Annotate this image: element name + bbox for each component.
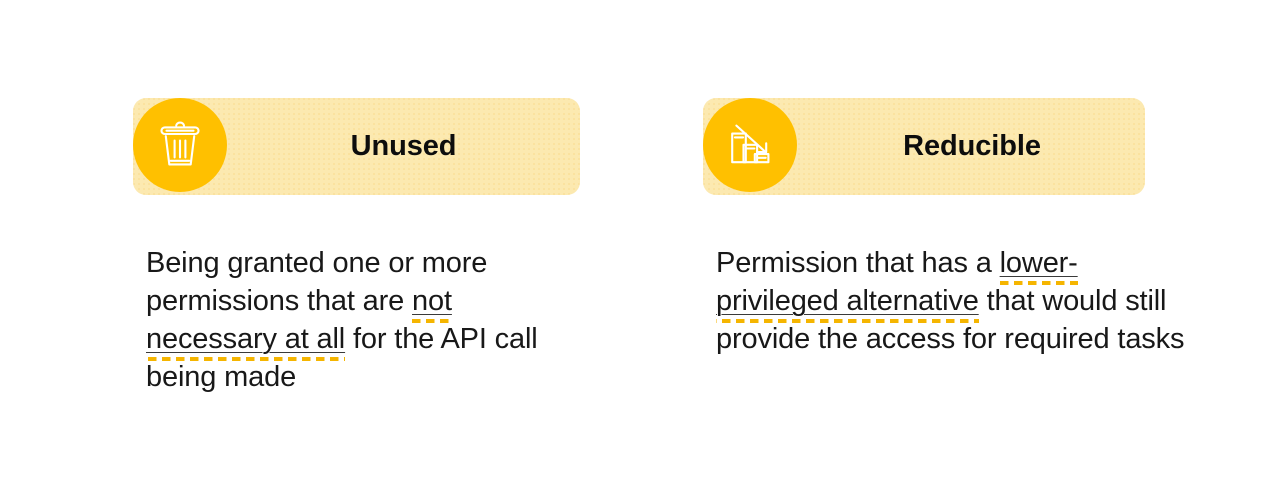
concept-description-reducible: Permission that has a lower-privileged a… [716,244,1186,358]
trash-can-icon [133,98,227,192]
concept-board: Unused Being granted one or more permiss… [0,0,1280,480]
concept-description-unused: Being granted one or more permissions th… [146,244,546,396]
concept-header-unused: Unused [133,98,580,195]
concept-header-reducible: Reducible [703,98,1145,195]
descending-bar-chart-arrow-icon [703,98,797,192]
concept-card-reducible: Reducible Permission that has a lower-pr… [703,98,1145,358]
concept-card-unused: Unused Being granted one or more permiss… [133,98,580,396]
concept-title-unused: Unused [227,130,580,163]
description-text-before: Permission that has a [716,247,1000,279]
concept-title-reducible: Reducible [799,130,1145,163]
